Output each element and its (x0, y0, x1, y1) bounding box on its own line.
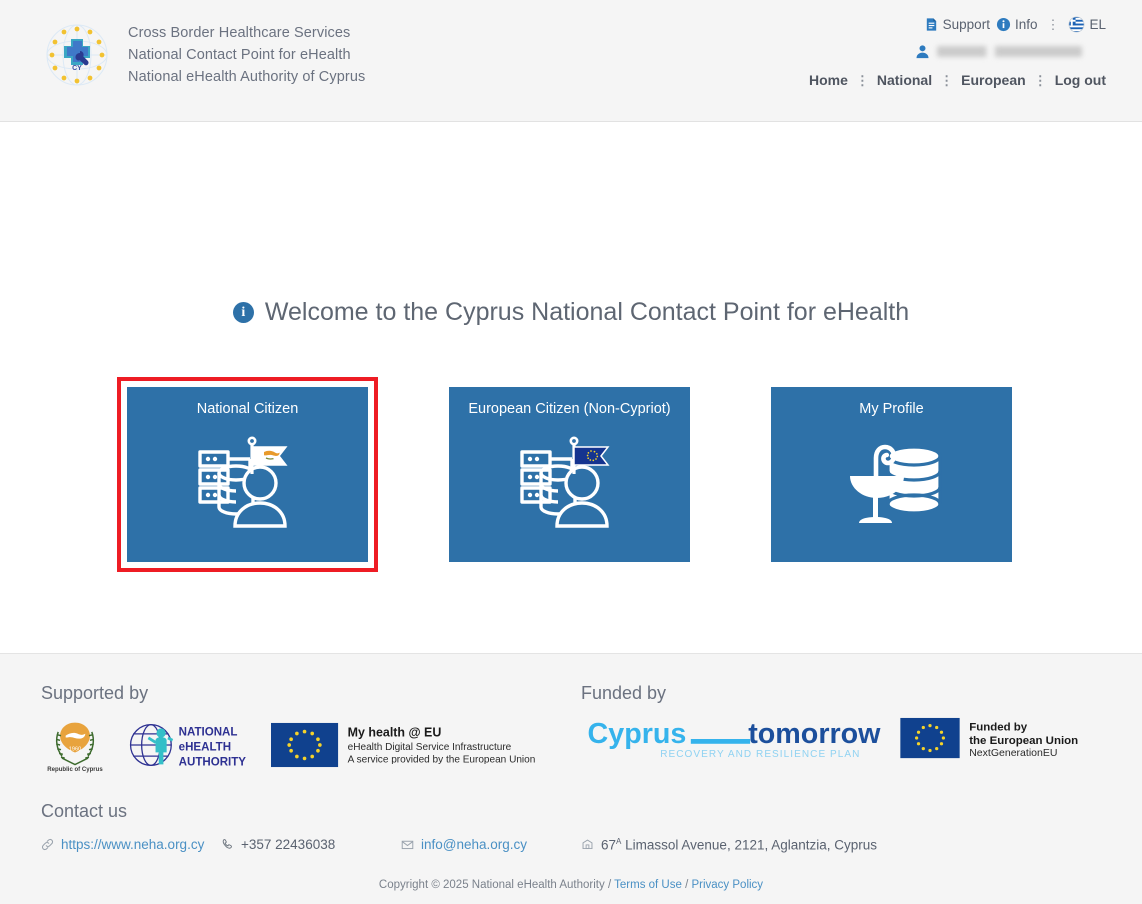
nav-item-home[interactable]: Home (809, 72, 848, 88)
funded-by-eu-logo-icon: Funded by the European Union NextGenerat… (897, 717, 1095, 761)
brand-line-1: Cross Border Healthcare Services (128, 22, 365, 44)
info-circle-icon (996, 17, 1011, 32)
supported-by-logos: 1960 Republic of Cyprus (41, 717, 581, 773)
header-utility-row: Support Info ⋮ (924, 16, 1106, 33)
national-ehealth-authority-logo-icon: NATIONAL eHEALTH AUTHORITY (125, 718, 249, 772)
page-title: i Welcome to the Cyprus National Contact… (0, 300, 1142, 325)
republic-of-cyprus-caption: Republic of Cyprus (47, 767, 103, 773)
supported-by-heading: Supported by (41, 682, 581, 704)
cyprus-ehealth-logo-icon: CY (42, 20, 112, 90)
contact-details-row: https://www.neha.org.cy +357 22436038 in… (41, 837, 911, 853)
page-footer: Supported by 1960 Republic of Cyprus (0, 653, 1142, 904)
phone-icon (221, 838, 234, 851)
nav-separator: ⋮ (937, 74, 956, 87)
entry-card-grid: National Citizen (127, 387, 1012, 562)
neha-line-3: AUTHORITY (179, 756, 247, 768)
document-support-icon (924, 17, 939, 32)
email-icon (401, 838, 414, 851)
tomorrow-word: tomorrow (748, 718, 881, 750)
card-european-citizen[interactable]: European Citizen (Non-Cypriot) (449, 387, 690, 562)
citizen-cyprus-flag-icon (188, 426, 308, 534)
address-number: 67 (601, 838, 616, 853)
greek-flag-icon (1068, 16, 1085, 33)
support-link[interactable]: Support (924, 17, 990, 32)
card-title: My Profile (859, 400, 923, 418)
cyprus-tomorrow-tagline: RECOVERY AND RESILIENCE PLAN (660, 749, 860, 760)
nav-item-european[interactable]: European (961, 72, 1026, 88)
contact-website-link[interactable]: https://www.neha.org.cy (61, 837, 204, 852)
card-title: National Citizen (197, 400, 299, 418)
contact-phone-value: +357 22436038 (241, 837, 335, 852)
contact-email-link[interactable]: info@neha.org.cy (421, 837, 527, 852)
brand-title-lines: Cross Border Healthcare Services Nationa… (128, 22, 365, 88)
eu-funded-line-1: Funded by (969, 721, 1028, 733)
brand-line-2: National Contact Point for eHealth (128, 44, 365, 66)
brand-block[interactable]: CY Cross Border Healthcare Services Nati… (42, 20, 365, 90)
citizen-eu-flag-icon (510, 426, 630, 534)
supported-by-column: Supported by 1960 Republic of Cyprus (41, 682, 581, 773)
language-label: EL (1089, 17, 1106, 32)
copyright-bar: Copyright © 2025 National eHealth Author… (0, 879, 1142, 891)
funded-by-column: Funded by Cyprus tomorrow RECOVERY AND R… (581, 682, 1112, 773)
cyprus-tomorrow-logo-icon: Cyprus tomorrow RECOVERY AND RESILIENCE … (581, 717, 881, 761)
contact-email[interactable]: info@neha.org.cy (401, 837, 581, 852)
nav-separator: ⋮ (853, 74, 872, 87)
cyprus-word: Cyprus (588, 718, 687, 750)
support-label: Support (943, 17, 990, 32)
republic-of-cyprus-logo-icon: 1960 Republic of Cyprus (41, 717, 109, 773)
page-title-text: Welcome to the Cyprus National Contact P… (265, 300, 909, 325)
card-national-citizen[interactable]: National Citizen (127, 387, 368, 562)
copyright-text: Copyright © 2025 National eHealth Author… (379, 879, 614, 891)
contact-website[interactable]: https://www.neha.org.cy (41, 837, 221, 852)
svg-text:CY: CY (72, 65, 82, 72)
my-health-eu-logo-icon: My health @ EU eHealth Digital Service I… (265, 722, 553, 768)
main-content: i Welcome to the Cyprus National Contact… (0, 122, 1142, 653)
funded-by-logos: Cyprus tomorrow RECOVERY AND RESILIENCE … (581, 717, 1112, 761)
info-link[interactable]: Info (996, 17, 1038, 32)
contact-us-heading: Contact us (41, 801, 127, 822)
myhealth-sub-1: eHealth Digital Service Infrastructure (348, 742, 512, 753)
info-circle-icon: i (233, 302, 254, 323)
address-rest: Limassol Avenue, 2121, Aglantzia, Cyprus (621, 838, 877, 853)
logged-in-user[interactable] (915, 44, 1082, 59)
svg-text:1960: 1960 (69, 747, 81, 753)
building-icon (581, 838, 594, 851)
contact-address-value: 67A Limassol Avenue, 2121, Aglantzia, Cy… (601, 837, 877, 853)
info-label: Info (1015, 17, 1038, 32)
terms-of-use-link[interactable]: Terms of Use (614, 879, 682, 891)
eu-funded-line-2: the European Union (969, 735, 1078, 747)
nav-separator: ⋮ (1031, 74, 1050, 87)
user-name (937, 46, 1082, 57)
page-header: CY Cross Border Healthcare Services Nati… (0, 0, 1142, 122)
nav-item-national[interactable]: National (877, 72, 932, 88)
pharmacy-database-icon (832, 426, 952, 534)
neha-line-2: eHEALTH (179, 742, 231, 754)
contact-address: 67A Limassol Avenue, 2121, Aglantzia, Cy… (581, 837, 911, 853)
privacy-policy-link[interactable]: Privacy Policy (691, 879, 763, 891)
myhealth-sub-2: A service provided by the European Union (348, 754, 536, 765)
myhealth-title: My health @ EU (348, 725, 442, 739)
card-my-profile[interactable]: My Profile (771, 387, 1012, 562)
eu-funded-line-3: NextGenerationEU (969, 747, 1057, 759)
user-avatar-icon (915, 44, 930, 59)
neha-line-1: NATIONAL (179, 727, 238, 739)
brand-line-3: National eHealth Authority of Cyprus (128, 66, 365, 88)
card-title: European Citizen (Non-Cypriot) (468, 400, 670, 418)
nav-item-logout[interactable]: Log out (1055, 72, 1106, 88)
funded-by-heading: Funded by (581, 682, 1112, 704)
language-switcher[interactable]: EL (1068, 16, 1106, 33)
main-nav: Home ⋮ National ⋮ European ⋮ Log out (809, 72, 1106, 88)
link-icon (41, 838, 54, 851)
contact-phone: +357 22436038 (221, 837, 401, 852)
footer-logo-columns: Supported by 1960 Republic of Cyprus (41, 682, 1112, 773)
utility-separator: ⋮ (1043, 18, 1062, 31)
